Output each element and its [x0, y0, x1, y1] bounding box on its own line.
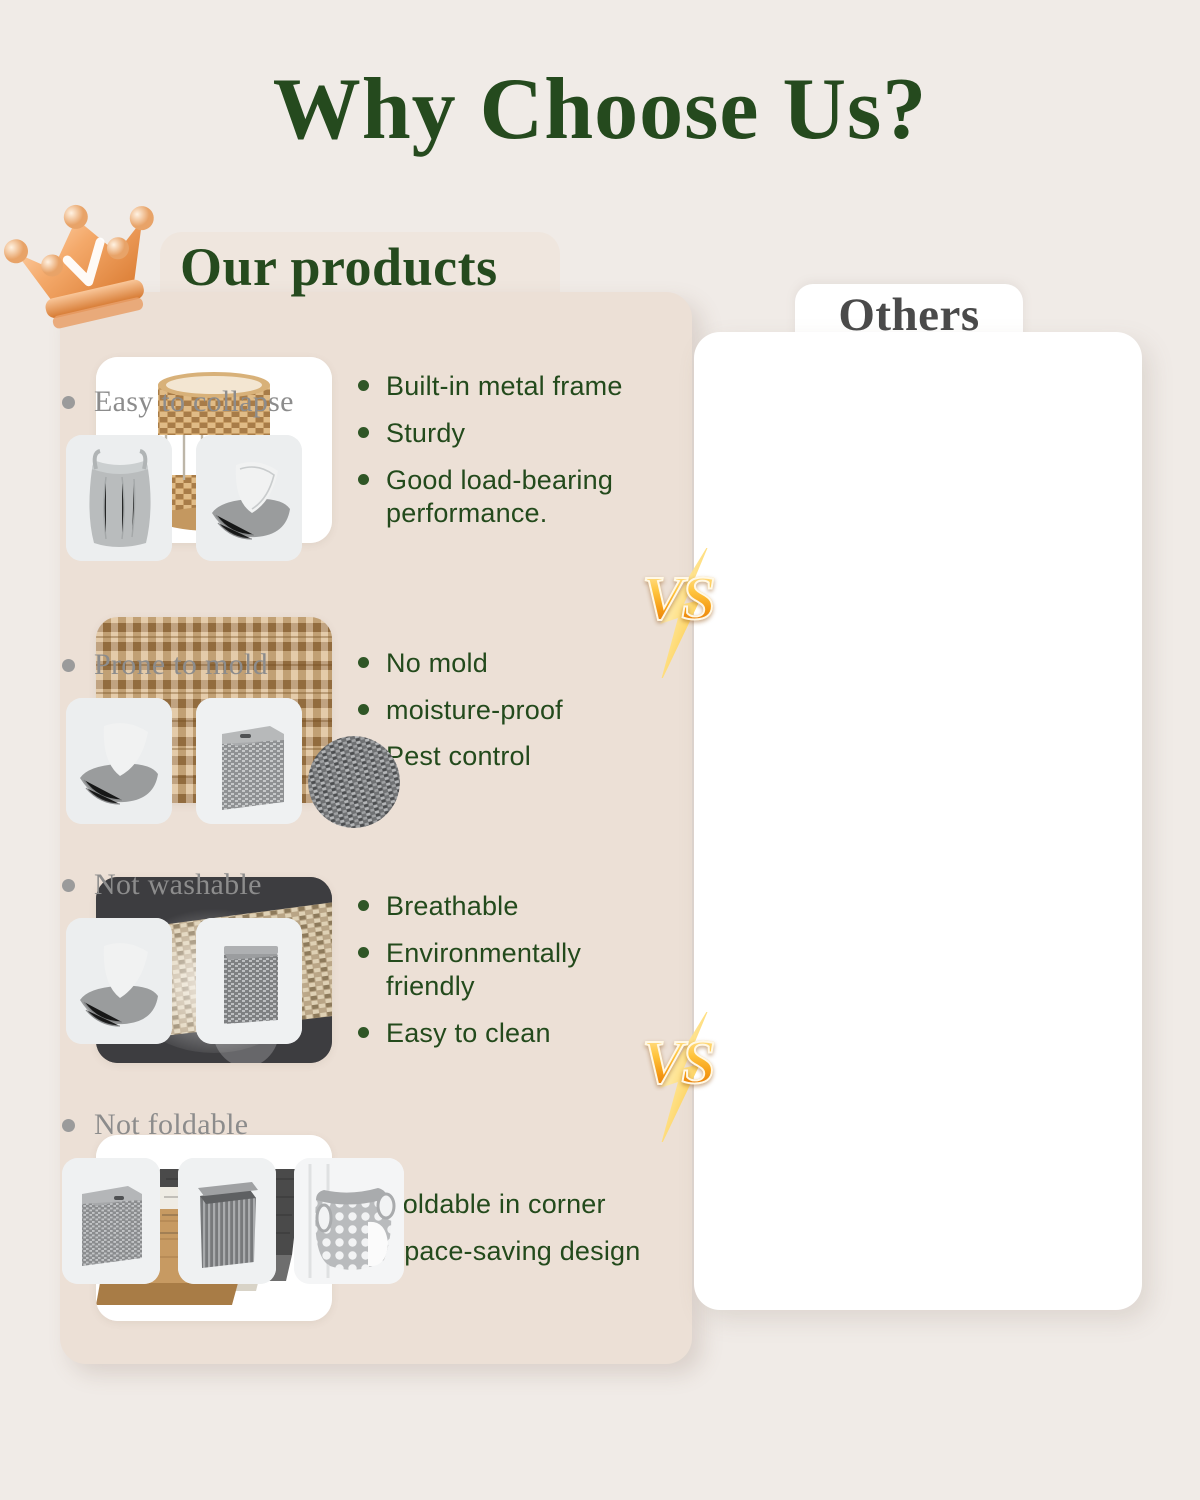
- others-row-3: Not washable: [0, 868, 448, 1044]
- others-row-4: Not foldable: [0, 1108, 448, 1284]
- woven-hamper-with-lid-thumb: [196, 698, 302, 824]
- collapsed-woven-basket-thumb: [66, 698, 172, 824]
- label-text: Easy to collapse: [94, 385, 294, 419]
- bullet-dot: [62, 659, 75, 672]
- others-card: [694, 332, 1142, 1310]
- others-row-2-label: Prone to mold: [62, 648, 448, 682]
- perforated-plastic-basket-thumb: [294, 1158, 404, 1284]
- vs-label: VS: [626, 1032, 730, 1094]
- others-row-3-thumbs: [66, 918, 448, 1044]
- others-row-1: Easy to collapse: [0, 385, 448, 561]
- others-row-4-thumbs: [62, 1158, 448, 1284]
- others-row-4-label: Not foldable: [62, 1108, 448, 1142]
- others-row-3-label: Not washable: [62, 868, 448, 902]
- page-title: Why Choose Us?: [0, 62, 1200, 157]
- label-text: Not washable: [94, 868, 262, 902]
- crown-icon: [2, 198, 170, 343]
- others-heading: Others: [795, 288, 1023, 342]
- others-row-2-thumbs: [66, 698, 448, 828]
- label-text: Prone to mold: [94, 648, 268, 682]
- others-row-1-thumbs: [66, 435, 448, 561]
- collapsed-fabric-hamper-thumb: [66, 435, 172, 561]
- vs-badge-2: VS: [626, 1012, 730, 1142]
- others-row-1-label: Easy to collapse: [62, 385, 448, 419]
- collapsed-woven-basket-thumb: [66, 918, 172, 1044]
- bullet-dot: [62, 879, 75, 892]
- infographic-page: Why Choose Us? Our products: [0, 0, 1200, 1500]
- mold-texture-closeup-circle: [308, 736, 400, 828]
- woven-hamper-rect-thumb: [196, 918, 302, 1044]
- others-row-2: Prone to mold: [0, 648, 448, 828]
- vs-label: VS: [626, 568, 730, 630]
- bullet-dot: [62, 1119, 75, 1132]
- collapsed-woven-basket-thumb: [196, 435, 302, 561]
- label-text: Not foldable: [94, 1108, 248, 1142]
- open-woven-hamper-thumb: [178, 1158, 276, 1284]
- vs-badge-1: VS: [626, 548, 730, 678]
- woven-hamper-with-lid-thumb: [62, 1158, 160, 1284]
- our-products-heading: Our products: [180, 236, 498, 298]
- bullet-dot: [62, 396, 75, 409]
